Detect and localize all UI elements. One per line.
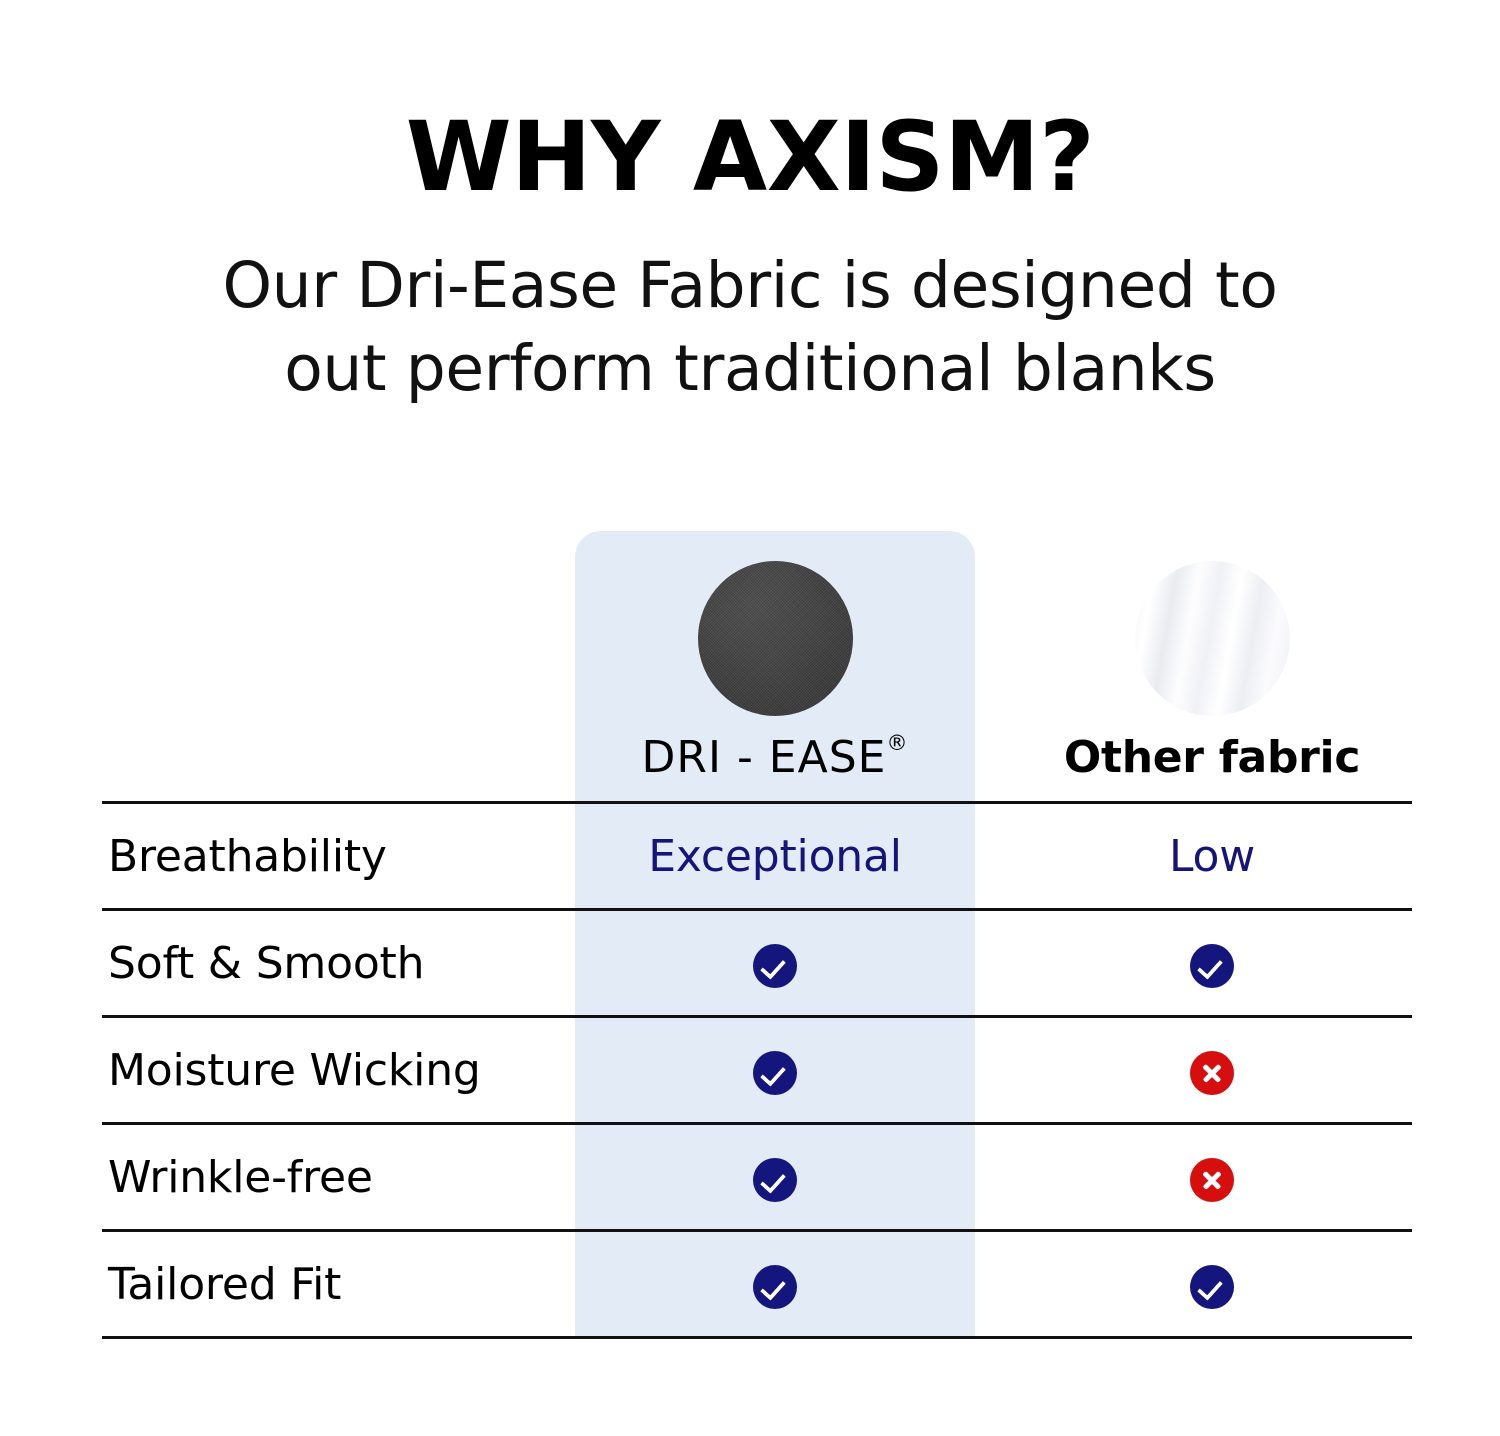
- light-glossy-fabric-swatch-icon: [1135, 561, 1290, 716]
- page-subtitle: Our Dri-Ease Fabric is designed to out p…: [0, 208, 1500, 410]
- table-divider: [102, 1336, 1412, 1339]
- table-row: Breathability Exceptional Low: [102, 804, 1412, 908]
- table-row: Tailored Fit: [102, 1232, 1412, 1336]
- row-label-moisture-wicking: Moisture Wicking: [102, 1045, 575, 1096]
- cell-dri-ease-soft-smooth: [575, 938, 975, 989]
- cell-other-tailored-fit: [1012, 1259, 1412, 1310]
- check-icon: [753, 944, 797, 988]
- cell-dri-ease-moisture-wicking: [575, 1045, 975, 1096]
- dark-woven-fabric-swatch-icon: [698, 561, 853, 716]
- table-row: Wrinkle-free: [102, 1125, 1412, 1229]
- column-title-dri-ease: DRI - EASE®: [575, 736, 975, 780]
- cell-dri-ease-breathability: Exceptional: [575, 831, 975, 882]
- row-label-soft-smooth: Soft & Smooth: [102, 938, 575, 989]
- page-subtitle-line-2: out perform traditional blanks: [284, 332, 1216, 405]
- table-row: Soft & Smooth: [102, 911, 1412, 1015]
- page-subtitle-line-1: Our Dri-Ease Fabric is designed to: [222, 249, 1277, 322]
- column-header-other-fabric: Other fabric: [1012, 531, 1412, 801]
- cell-other-wrinkle-free: [1012, 1152, 1412, 1203]
- column-title-other-fabric: Other fabric: [1012, 736, 1412, 780]
- column-title-dri-ease-text: DRI - EASE: [642, 732, 887, 783]
- registered-trademark-icon: ®: [886, 731, 908, 755]
- column-headers: DRI - EASE® Other fabric: [0, 531, 1500, 801]
- check-icon: [1190, 1265, 1234, 1309]
- column-header-dri-ease: DRI - EASE®: [575, 531, 975, 801]
- cell-dri-ease-wrinkle-free: [575, 1152, 975, 1203]
- cell-other-breathability: Low: [1012, 831, 1412, 882]
- header-block: WHY AXISM? Our Dri-Ease Fabric is design…: [0, 108, 1500, 410]
- row-label-breathability: Breathability: [102, 831, 575, 882]
- cell-other-moisture-wicking: [1012, 1045, 1412, 1096]
- check-icon: [753, 1051, 797, 1095]
- page-title: WHY AXISM?: [0, 108, 1500, 208]
- row-label-wrinkle-free: Wrinkle-free: [102, 1152, 575, 1203]
- cross-icon: [1190, 1051, 1234, 1095]
- table-row: Moisture Wicking: [102, 1018, 1412, 1122]
- cell-dri-ease-tailored-fit: [575, 1259, 975, 1310]
- check-icon: [753, 1158, 797, 1202]
- check-icon: [1190, 944, 1234, 988]
- cell-other-soft-smooth: [1012, 938, 1412, 989]
- comparison-infographic: WHY AXISM? Our Dri-Ease Fabric is design…: [0, 0, 1500, 1436]
- cross-icon: [1190, 1158, 1234, 1202]
- row-label-tailored-fit: Tailored Fit: [102, 1259, 575, 1310]
- comparison-table: Breathability Exceptional Low Soft & Smo…: [102, 801, 1412, 1339]
- check-icon: [753, 1265, 797, 1309]
